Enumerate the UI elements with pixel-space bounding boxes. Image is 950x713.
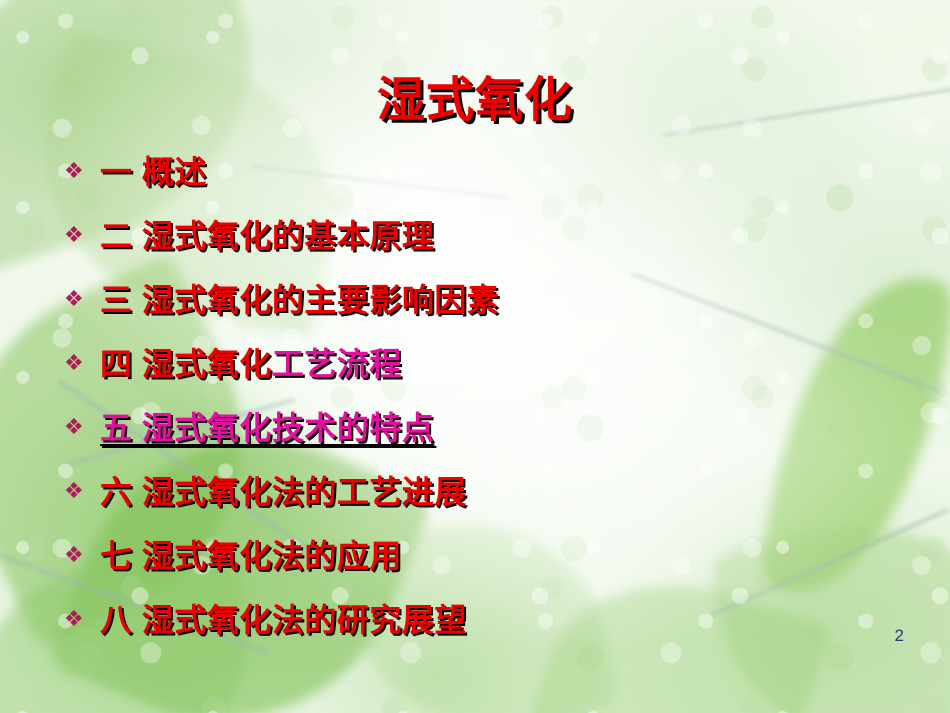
outline-item-8[interactable]: ❖八 湿式氧化法的研究展望 — [64, 588, 884, 652]
outline-item-6[interactable]: ❖六 湿式氧化法的工艺进展 — [64, 460, 884, 524]
outline-item-label[interactable]: 八 湿式氧化法的研究展望 — [100, 600, 467, 640]
outline-item-text-segment: 三 湿式氧化的主要影响因素 — [100, 282, 499, 318]
bullet-diamond-icon: ❖ — [64, 609, 100, 631]
outline-item-text-segment: 一 概述 — [100, 154, 207, 190]
outline-item-text-segment: 八 湿式氧化法的研究展望 — [100, 602, 467, 638]
outline-item-text-segment: 七 湿式氧化法的应用 — [100, 538, 402, 574]
bullet-diamond-icon: ❖ — [64, 545, 100, 567]
outline-item-label[interactable]: 六 湿式氧化法的工艺进展 — [100, 472, 467, 512]
bullet-diamond-icon: ❖ — [64, 161, 100, 183]
outline-item-text-segment: 工艺流程 — [272, 346, 402, 382]
outline-item-text-segment: 四 湿式氧化 — [100, 346, 272, 382]
outline-list: ❖一 概述❖二 湿式氧化的基本原理❖三 湿式氧化的主要影响因素❖四 湿式氧化工艺… — [64, 140, 884, 652]
outline-item-7[interactable]: ❖七 湿式氧化法的应用 — [64, 524, 884, 588]
outline-item-4[interactable]: ❖四 湿式氧化工艺流程 — [64, 332, 884, 396]
outline-item-label[interactable]: 一 概述 — [100, 152, 207, 192]
outline-item-1[interactable]: ❖一 概述 — [64, 140, 884, 204]
outline-item-text-segment: 五 湿式氧化技术的特点 — [100, 410, 434, 446]
outline-item-text-segment: 二 湿式氧化的基本原理 — [100, 218, 434, 254]
outline-item-label[interactable]: 四 湿式氧化工艺流程 — [100, 344, 402, 384]
bullet-diamond-icon: ❖ — [64, 353, 100, 375]
bullet-diamond-icon: ❖ — [64, 289, 100, 311]
outline-item-2[interactable]: ❖二 湿式氧化的基本原理 — [64, 204, 884, 268]
presentation-slide: 湿式氧化 ❖一 概述❖二 湿式氧化的基本原理❖三 湿式氧化的主要影响因素❖四 湿… — [0, 0, 950, 713]
page-number: 2 — [895, 626, 904, 646]
slide-content: 湿式氧化 ❖一 概述❖二 湿式氧化的基本原理❖三 湿式氧化的主要影响因素❖四 湿… — [0, 0, 950, 713]
outline-item-label[interactable]: 二 湿式氧化的基本原理 — [100, 216, 434, 256]
outline-item-label[interactable]: 三 湿式氧化的主要影响因素 — [100, 280, 499, 320]
bullet-diamond-icon: ❖ — [64, 225, 100, 247]
outline-item-label[interactable]: 七 湿式氧化法的应用 — [100, 536, 402, 576]
slide-title: 湿式氧化 — [0, 74, 950, 128]
outline-item-3[interactable]: ❖三 湿式氧化的主要影响因素 — [64, 268, 884, 332]
bullet-diamond-icon: ❖ — [64, 417, 100, 439]
bullet-diamond-icon: ❖ — [64, 481, 100, 503]
outline-item-5[interactable]: ❖五 湿式氧化技术的特点 — [64, 396, 884, 460]
outline-item-label[interactable]: 五 湿式氧化技术的特点 — [100, 408, 434, 448]
outline-item-text-segment: 六 湿式氧化法的工艺进展 — [100, 474, 467, 510]
